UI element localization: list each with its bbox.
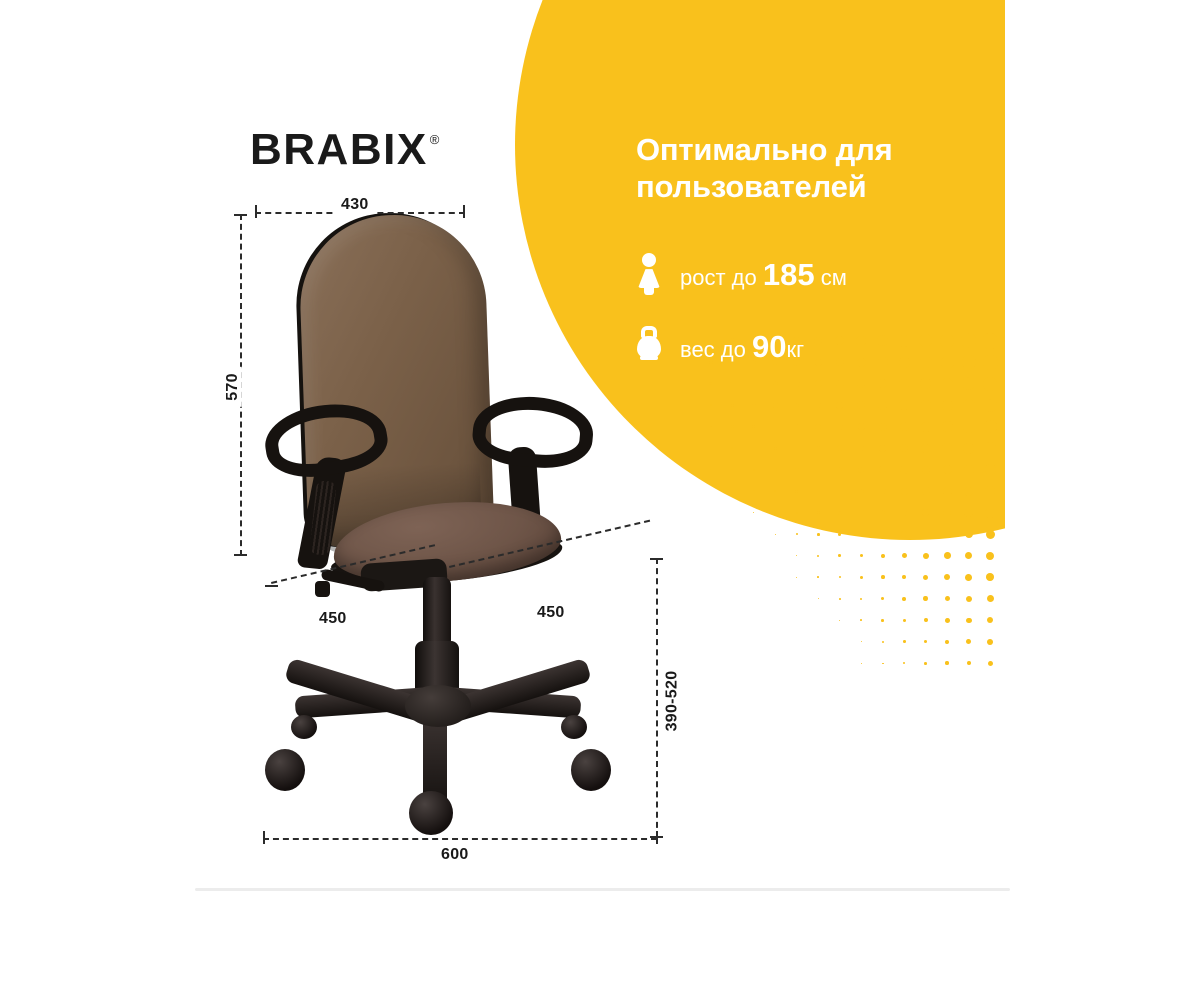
halftone-dot	[773, 425, 777, 429]
halftone-dot	[921, 444, 930, 453]
dim-label-seat-height: 390-520	[663, 665, 681, 738]
dim-tick-base-width-right	[656, 831, 658, 844]
halftone-dot	[817, 511, 820, 514]
halftone-dot	[964, 487, 973, 496]
halftone-dot	[902, 575, 906, 579]
halftone-dot	[881, 619, 884, 622]
dim-tick-height-back-bottom	[234, 554, 247, 556]
halftone-dot	[901, 488, 908, 495]
halftone-dot	[984, 420, 997, 433]
halftone-dot	[753, 512, 754, 513]
halftone-dot	[1004, 376, 1005, 391]
halftone-dot	[752, 425, 755, 428]
chair-base-hub	[405, 685, 471, 727]
halftone-dot	[983, 377, 997, 391]
halftone-dot	[944, 574, 950, 580]
person-icon-head	[642, 253, 656, 267]
kettlebell-icon	[636, 323, 662, 369]
halftone-dot	[860, 576, 863, 579]
dim-label-seat-depth-right: 450	[531, 604, 571, 622]
halftone-dot	[988, 661, 993, 666]
halftone-dot	[966, 596, 972, 602]
halftone-dot	[924, 640, 927, 643]
halftone-dot	[1004, 354, 1005, 370]
halftone-dot	[815, 402, 821, 408]
halftone-dot	[752, 403, 756, 407]
halftone-dot	[837, 467, 842, 472]
halftone-dot	[816, 489, 820, 493]
spec-height-unit: см	[815, 265, 847, 290]
halftone-dot	[815, 424, 821, 430]
dim-label-height-back: 570	[224, 367, 242, 407]
chair-caster-back-right	[561, 715, 587, 739]
halftone-dot	[987, 639, 993, 645]
halftone-dot	[880, 488, 886, 494]
halftone-dot	[881, 554, 885, 558]
halftone-dot	[774, 490, 776, 492]
halftone-dot	[945, 661, 949, 665]
halftone-dot	[817, 576, 819, 578]
halftone-dot	[922, 487, 930, 495]
halftone-dot	[731, 447, 733, 449]
halftone-dot	[796, 555, 797, 556]
halftone-dot	[860, 619, 862, 621]
halftone-dot	[882, 663, 884, 665]
halftone-dot	[731, 469, 733, 471]
dim-tick-width-top-left	[255, 205, 257, 218]
halftone-dot	[774, 468, 777, 471]
halftone-dot	[966, 639, 971, 644]
halftone-dot	[903, 640, 906, 643]
halftone-dot	[963, 443, 974, 454]
spec-weight-prefix: вес до	[680, 337, 752, 362]
spec-weight-unit: кг	[786, 337, 804, 362]
halftone-dot	[857, 401, 865, 409]
chair-caster-back-left	[291, 715, 317, 739]
halftone-dot	[859, 489, 864, 494]
halftone-dot	[838, 554, 841, 557]
dim-tick-seat-height-top	[650, 558, 663, 560]
halftone-dot	[963, 399, 975, 411]
halftone-dot	[837, 445, 843, 451]
halftone-dot	[965, 574, 972, 581]
halftone-dot	[903, 662, 905, 664]
halftone-dot	[795, 490, 798, 493]
halftone-dot	[943, 509, 951, 517]
spec-height-value: 185	[763, 257, 815, 292]
office-chair-illustration	[255, 215, 615, 835]
halftone-dot	[710, 426, 712, 428]
brand-logo: BRABIX®	[250, 128, 437, 172]
halftone-dot	[924, 618, 928, 622]
halftone-dot	[710, 404, 712, 406]
person-icon-legs	[644, 286, 654, 295]
halftone-dot	[880, 510, 885, 515]
halftone-dot	[967, 661, 971, 665]
halftone-dot	[921, 400, 932, 411]
halftone-dot	[902, 597, 906, 601]
halftone-dot	[773, 403, 778, 408]
halftone-dot	[987, 617, 993, 623]
halftone-dot	[795, 446, 799, 450]
halftone-dot	[964, 465, 974, 475]
spec-weight-value: 90	[752, 329, 786, 364]
halftone-dot	[987, 595, 994, 602]
spec-height-text: рост до 185 см	[680, 259, 847, 290]
hero-title: Оптимально для пользователей	[636, 132, 966, 205]
dim-line-base-width	[263, 838, 657, 840]
dim-tick-height-back-top	[234, 214, 247, 216]
halftone-dot	[879, 445, 886, 452]
halftone-dot	[945, 596, 950, 601]
dim-tick-width-top-right	[463, 205, 465, 218]
halftone-dot	[963, 421, 975, 433]
halftone-dot	[945, 618, 950, 623]
halftone-dot	[838, 511, 842, 515]
halftone-dot	[860, 554, 863, 557]
halftone-dot	[839, 620, 840, 621]
dim-line-seat-height	[656, 558, 658, 838]
kettlebell-icon-foot	[640, 356, 658, 360]
person-icon	[636, 251, 662, 297]
halftone-dot	[902, 553, 907, 558]
halftone-dot	[965, 530, 973, 538]
halftone-dot	[879, 466, 886, 473]
halftone-dot	[944, 531, 951, 538]
halftone-dot	[838, 489, 842, 493]
halftone-dot	[900, 422, 909, 431]
halftone-dot	[710, 448, 711, 449]
halftone-dot	[879, 423, 887, 431]
halftone-dot	[796, 512, 798, 514]
halftone-dot	[965, 552, 972, 559]
halftone-dot	[983, 355, 998, 370]
dim-label-seat-depth-left: 450	[313, 610, 353, 628]
chair-caster-left	[265, 749, 305, 791]
halftone-dot	[923, 531, 929, 537]
halftone-dot	[817, 555, 819, 557]
registered-trademark-icon: ®	[430, 132, 440, 147]
halftone-dot	[966, 618, 972, 624]
spec-height-prefix: рост до	[680, 265, 763, 290]
halftone-dot	[986, 573, 994, 581]
halftone-dot	[861, 663, 862, 664]
halftone-dot	[774, 512, 776, 514]
halftone-dot	[943, 487, 952, 496]
spec-list: рост до 185 см вес до 90кг	[636, 251, 966, 369]
halftone-dot	[752, 447, 755, 450]
dim-tick-base-width-left	[263, 831, 265, 844]
halftone-dot	[838, 533, 841, 536]
halftone-dot	[861, 641, 862, 642]
spec-row-height: рост до 185 см	[636, 251, 966, 297]
brand-logo-text: BRABIX	[250, 125, 428, 174]
halftone-dot	[858, 467, 864, 473]
halftone-dot	[859, 532, 863, 536]
halftone-dot	[732, 491, 733, 492]
halftone-dot	[921, 422, 931, 432]
halftone-dot	[942, 443, 952, 453]
halftone-dot	[796, 577, 797, 578]
halftone-dot	[774, 447, 777, 450]
halftone-dot	[753, 490, 755, 492]
halftone-dot	[942, 421, 953, 432]
halftone-dot	[942, 400, 953, 411]
chair-caster-front	[409, 791, 453, 835]
halftone-dot	[710, 469, 711, 470]
halftone-dot	[982, 333, 998, 349]
halftone-dot	[881, 597, 884, 600]
halftone-dot	[816, 446, 821, 451]
halftone-dot	[985, 508, 995, 518]
dim-label-width-top: 430	[335, 196, 375, 214]
halftone-dot	[753, 469, 755, 471]
spec-weight-text: вес до 90кг	[680, 331, 804, 362]
halftone-dot	[944, 552, 951, 559]
halftone-dot	[796, 533, 798, 535]
halftone-dot	[858, 423, 865, 430]
halftone-dot	[1003, 332, 1005, 349]
halftone-dot	[899, 400, 909, 410]
halftone-dot	[795, 468, 799, 472]
hero-text-block: Оптимально для пользователей рост до 185…	[636, 132, 966, 395]
spec-row-weight: вес до 90кг	[636, 323, 966, 369]
halftone-dot	[923, 575, 928, 580]
halftone-dot	[818, 598, 819, 599]
halftone-dot	[816, 468, 820, 472]
halftone-dot	[945, 640, 949, 644]
halftone-dot	[922, 509, 929, 516]
halftone-dot	[839, 598, 841, 600]
halftone-dot	[984, 442, 996, 454]
product-infographic-card: BRABIX® Оптимально для пользователей рос…	[0, 0, 1200, 982]
dim-label-base-width: 600	[435, 846, 475, 864]
halftone-dot	[794, 403, 799, 408]
halftone-dot	[924, 662, 927, 665]
halftone-dot	[731, 404, 734, 407]
halftone-dot	[923, 596, 928, 601]
chair-lever-knob	[315, 581, 330, 597]
halftone-dot	[900, 444, 908, 452]
dim-tick-seat-depth-left-end	[265, 585, 278, 587]
halftone-dot	[985, 464, 996, 475]
halftone-dot	[859, 510, 864, 515]
halftone-dot	[881, 575, 885, 579]
halftone-dot	[794, 424, 799, 429]
halftone-dot	[878, 401, 887, 410]
halftone-dot	[839, 576, 841, 578]
footer-divider	[195, 888, 1010, 891]
halftone-dot	[985, 486, 995, 496]
halftone-dot	[775, 534, 776, 535]
chair-gas-cylinder-upper	[423, 577, 451, 651]
halftone-dot	[901, 510, 907, 516]
content-clip-region: BRABIX® Оптимально для пользователей рос…	[195, 0, 1005, 890]
halftone-dot	[922, 466, 930, 474]
halftone-dot	[903, 619, 906, 622]
halftone-dot	[837, 424, 843, 430]
halftone-dot	[986, 530, 995, 539]
halftone-dot	[984, 399, 997, 412]
halftone-dot	[836, 402, 843, 409]
halftone-dot	[943, 465, 952, 474]
halftone-dot	[901, 531, 907, 537]
halftone-dot	[900, 466, 908, 474]
halftone-dot	[817, 533, 820, 536]
halftone-dot	[923, 553, 929, 559]
halftone-dot	[964, 508, 973, 517]
chair-caster-right	[571, 749, 611, 791]
halftone-dot	[858, 445, 865, 452]
halftone-dot	[986, 552, 994, 560]
halftone-dot	[860, 598, 862, 600]
halftone-dot	[880, 532, 885, 537]
halftone-dot	[731, 425, 734, 428]
halftone-dot	[882, 641, 884, 643]
